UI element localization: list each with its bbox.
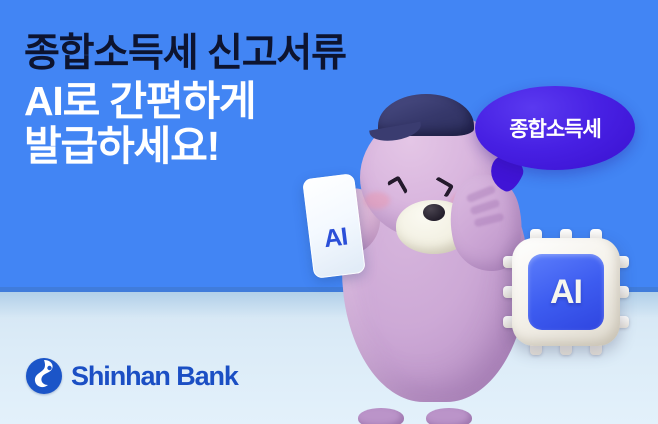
- mascot-foot-right: [426, 408, 472, 424]
- mascot-nose: [423, 204, 445, 221]
- chip-body: AI: [512, 238, 620, 346]
- shinhan-emblem-icon: [26, 358, 62, 394]
- mascot-foot-left: [358, 408, 404, 424]
- ai-chip-icon: AI: [512, 238, 620, 346]
- speech-bubble-text: 종합소득세: [509, 113, 601, 143]
- chip-ai-label: AI: [550, 273, 582, 312]
- headline-line-1: 종합소득세 신고서류: [24, 34, 444, 75]
- mascot-cheek-left: [364, 192, 390, 209]
- speech-bubble: 종합소득세: [475, 86, 635, 170]
- shinhan-ai-promo-banner: 종합소득세 신고서류 AI로 간편하게 발급하세요! AI 종합소득세: [0, 0, 658, 424]
- phone-ai-label: AI: [322, 222, 348, 254]
- shinhan-swirl-shape: [26, 358, 62, 394]
- shinhan-bank-logo: Shinhan Bank: [26, 358, 238, 394]
- shinhan-bank-wordmark: Shinhan Bank: [71, 361, 238, 392]
- chip-face: AI: [528, 254, 604, 330]
